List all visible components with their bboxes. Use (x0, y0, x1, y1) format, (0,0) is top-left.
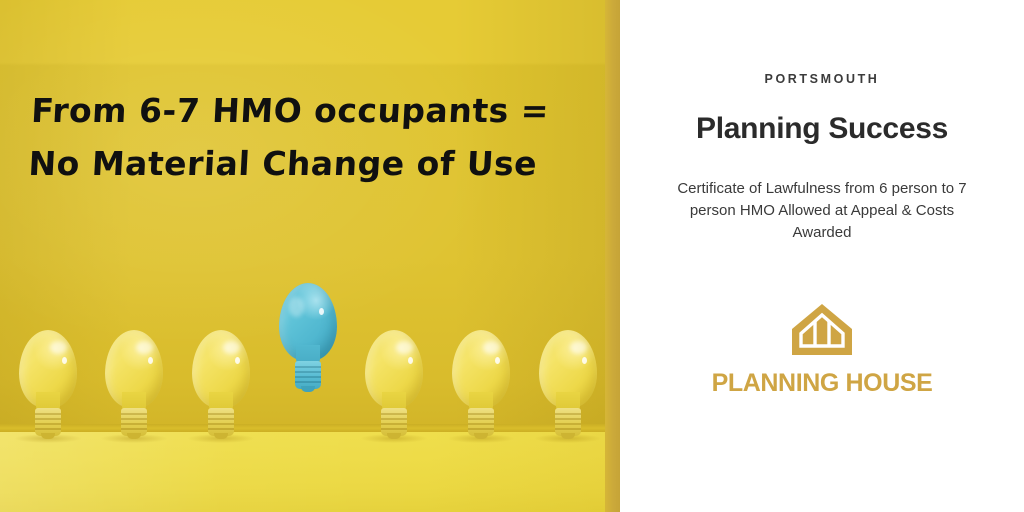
lightbulb-screw-base (381, 408, 407, 436)
lightbulb-1 (19, 330, 77, 438)
panel-divider-strip (605, 0, 620, 512)
lightbulb-screw-base (121, 408, 147, 436)
lightbulb-7 (539, 330, 597, 438)
info-panel: PORTSMOUTH Planning Success Certificate … (620, 0, 1024, 512)
lightbulb-highlight (50, 341, 67, 354)
case-summary: Certificate of Lawfulness from 6 person … (667, 178, 977, 244)
lightbulb-screw-base (208, 408, 234, 436)
lightbulb-4-highlighted (279, 283, 337, 391)
lightbulb-highlight (136, 341, 153, 354)
lightbulb-5 (365, 330, 423, 438)
lightbulb-screw-base (35, 408, 61, 436)
lightbulb-highlight (570, 341, 587, 354)
lightbulb-3 (192, 330, 250, 438)
promo-poster: From 6-7 HMO occupants = No Material Cha… (0, 0, 1024, 512)
lightbulb-highlight (223, 341, 240, 354)
photo-floor-reflection (0, 432, 605, 512)
lightbulb-glint (62, 357, 67, 364)
page-title: Planning Success (696, 112, 948, 146)
lightbulb-glint (148, 357, 153, 364)
lightbulb-2 (105, 330, 163, 438)
lightbulb-screw-base (468, 408, 494, 436)
brand-wordmark: PLANNING HOUSE (712, 369, 933, 398)
lightbulb-glint (495, 357, 500, 364)
lightbulb-screw-base (555, 408, 581, 436)
lightbulb-highlight (483, 341, 500, 354)
lightbulb-highlight (396, 341, 413, 354)
lightbulb-glint (582, 357, 587, 364)
lightbulbs-photo-panel: From 6-7 HMO occupants = No Material Cha… (0, 0, 620, 512)
location-eyebrow: PORTSMOUTH (765, 72, 880, 86)
lightbulb-highlight (289, 297, 304, 317)
overlay-caption-line-1: From 6-7 HMO occupants = (30, 84, 593, 137)
lightbulb-glint (408, 357, 413, 364)
lightbulb-screw-base (295, 361, 321, 389)
photo-overlay-caption: From 6-7 HMO occupants = No Material Cha… (27, 84, 593, 190)
house-icon (790, 302, 854, 360)
lightbulb-glint (235, 357, 240, 364)
lightbulb-glint (319, 308, 324, 315)
overlay-caption-line-2: No Material Change of Use (27, 137, 590, 190)
lightbulb-6 (452, 330, 510, 438)
brand-logo: PLANNING HOUSE (712, 302, 933, 398)
